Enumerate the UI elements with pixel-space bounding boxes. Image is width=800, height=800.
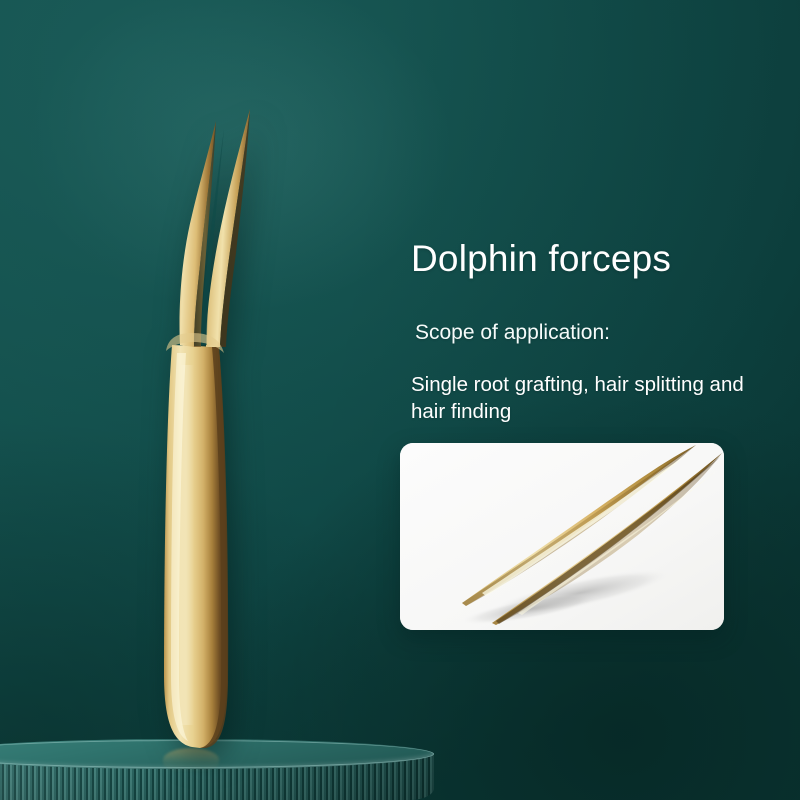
copy-block: Dolphin forceps Scope of application: Si… [411,236,781,425]
product-marketing-image: Dolphin forceps Scope of application: Si… [0,0,800,800]
detail-card [400,443,724,630]
gold-tweezers-product [120,95,300,760]
tweezer-specular-strip [180,365,194,725]
product-title: Dolphin forceps [411,236,781,282]
scope-description: Single root grafting, hair splitting and… [411,371,767,425]
scope-label: Scope of application: [415,319,781,347]
